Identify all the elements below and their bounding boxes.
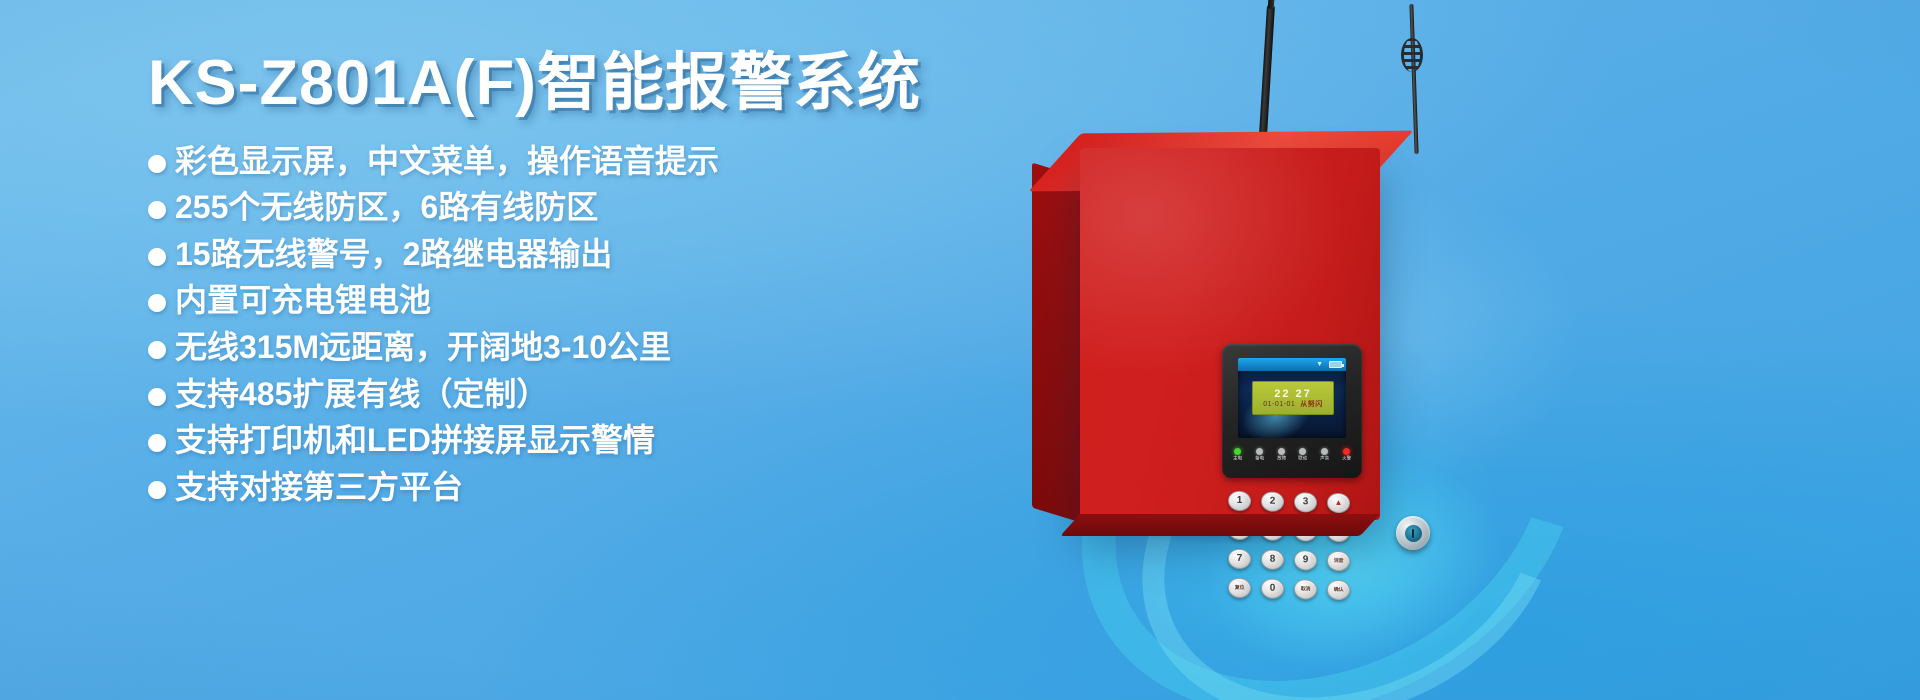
key-lock-icon[interactable]	[1396, 516, 1430, 550]
enclosure-front-panel: ▼ 22 27 01-01-01 从努闪 主电	[1080, 148, 1380, 520]
lcd-status-bar: ▼	[1238, 358, 1346, 371]
key-confirm[interactable]: 确认	[1327, 580, 1350, 600]
indicator-main-power: 主电	[1234, 448, 1241, 461]
lcd-info-panel: 22 27 01-01-01 从努闪	[1252, 381, 1334, 415]
key-reset[interactable]: 复位	[1228, 578, 1251, 598]
led-icon	[1299, 448, 1306, 455]
led-icon	[1234, 448, 1241, 455]
led-icon	[1321, 448, 1328, 455]
key-up-icon[interactable]: ▲	[1327, 493, 1350, 513]
led-icon	[1278, 448, 1285, 455]
led-label: 备电	[1255, 457, 1264, 461]
key-mute[interactable]: 消音	[1327, 551, 1350, 571]
bullet-icon	[148, 388, 166, 406]
key-cancel[interactable]: 取消	[1294, 579, 1317, 599]
indicator-fire-alarm: 火警	[1343, 448, 1350, 461]
key-4[interactable]: 4	[1228, 520, 1251, 540]
feature-text: 支持485扩展有线（定制）	[175, 378, 548, 411]
bullet-icon	[148, 201, 166, 219]
key-9[interactable]: 9	[1294, 550, 1317, 570]
list-item: 支持对接第三方平台	[148, 471, 968, 504]
key-0[interactable]: 0	[1261, 578, 1284, 598]
signal-icon: ▼	[1316, 361, 1323, 368]
feature-text: 255个无线防区，6路有线防区	[175, 191, 598, 224]
lcd-date: 01-01-01	[1263, 401, 1295, 408]
list-item: 15路无线警号，2路继电器输出	[148, 238, 968, 271]
feature-text: 内置可充电锂电池	[175, 284, 431, 317]
feature-text: 无线315M远距离，开阔地3-10公里	[175, 331, 671, 364]
lcd-status-text: 从努闪	[1300, 401, 1323, 408]
lcd-subline: 01-01-01 从努闪	[1263, 401, 1323, 408]
feature-text: 支持对接第三方平台	[175, 471, 463, 504]
feature-text: 15路无线警号，2路继电器输出	[175, 238, 612, 271]
bullet-icon	[148, 481, 166, 499]
key-8[interactable]: 8	[1261, 549, 1284, 569]
bullet-icon	[148, 341, 166, 359]
led-label: 声音	[1320, 457, 1329, 461]
bullet-icon	[148, 248, 166, 266]
key-6[interactable]: 6	[1294, 521, 1317, 541]
bullet-icon	[148, 155, 166, 173]
led-label: 主电	[1233, 457, 1242, 461]
list-item: 255个无线防区，6路有线防区	[148, 191, 968, 224]
list-item: 支持485扩展有线（定制）	[148, 378, 968, 411]
list-item: 无线315M远距离，开阔地3-10公里	[148, 331, 968, 364]
indicator-fault: 故障	[1278, 448, 1285, 461]
key-down-icon[interactable]: ▼	[1327, 522, 1350, 542]
page-title: KS-Z801A(F)智能报警系统	[148, 48, 968, 119]
battery-icon	[1329, 361, 1342, 368]
antenna-coil-icon	[1401, 38, 1423, 72]
bullet-icon	[148, 434, 166, 452]
keypad[interactable]: 1 2 3 ▲ 4 5 6 ▼ 7 8 9 消音 复位 0 取消 确认	[1228, 491, 1353, 604]
led-icon	[1256, 448, 1263, 455]
led-label: 故障	[1277, 457, 1286, 461]
led-label: 联动	[1298, 457, 1307, 461]
led-label: 火警	[1342, 457, 1351, 461]
indicator-sound: 声音	[1321, 448, 1328, 461]
product-banner: KS-Z801A(F)智能报警系统 彩色显示屏，中文菜单，操作语音提示 255个…	[0, 0, 1920, 700]
marketing-copy: KS-Z801A(F)智能报警系统 彩色显示屏，中文菜单，操作语音提示 255个…	[148, 48, 968, 518]
feature-text: 彩色显示屏，中文菜单，操作语音提示	[175, 145, 719, 178]
led-icon	[1343, 448, 1350, 455]
key-5[interactable]: 5	[1261, 520, 1284, 540]
indicator-backup-power: 备电	[1256, 448, 1263, 461]
feature-text: 支持打印机和LED拼接屏显示警情	[175, 424, 655, 457]
key-2[interactable]: 2	[1261, 491, 1284, 511]
key-7[interactable]: 7	[1228, 549, 1251, 569]
display-bezel: ▼ 22 27 01-01-01 从努闪 主电	[1222, 344, 1362, 478]
key-3[interactable]: 3	[1294, 492, 1317, 512]
key-1[interactable]: 1	[1228, 491, 1251, 511]
indicator-linkage: 联动	[1299, 448, 1306, 461]
lcd-time: 22 27	[1274, 389, 1312, 400]
indicator-led-row: 主电 备电 故障 联动	[1234, 448, 1350, 461]
lock-core	[1405, 525, 1422, 542]
lcd-screen: ▼ 22 27 01-01-01 从努闪	[1238, 358, 1346, 438]
bullet-icon	[148, 294, 166, 312]
list-item: 支持打印机和LED拼接屏显示警情	[148, 424, 968, 457]
list-item: 彩色显示屏，中文菜单，操作语音提示	[148, 145, 968, 178]
product-image: ▼ 22 27 01-01-01 从努闪 主电	[960, 0, 1520, 700]
list-item: 内置可充电锂电池	[148, 284, 968, 317]
feature-list: 彩色显示屏，中文菜单，操作语音提示 255个无线防区，6路有线防区 15路无线警…	[148, 145, 968, 504]
